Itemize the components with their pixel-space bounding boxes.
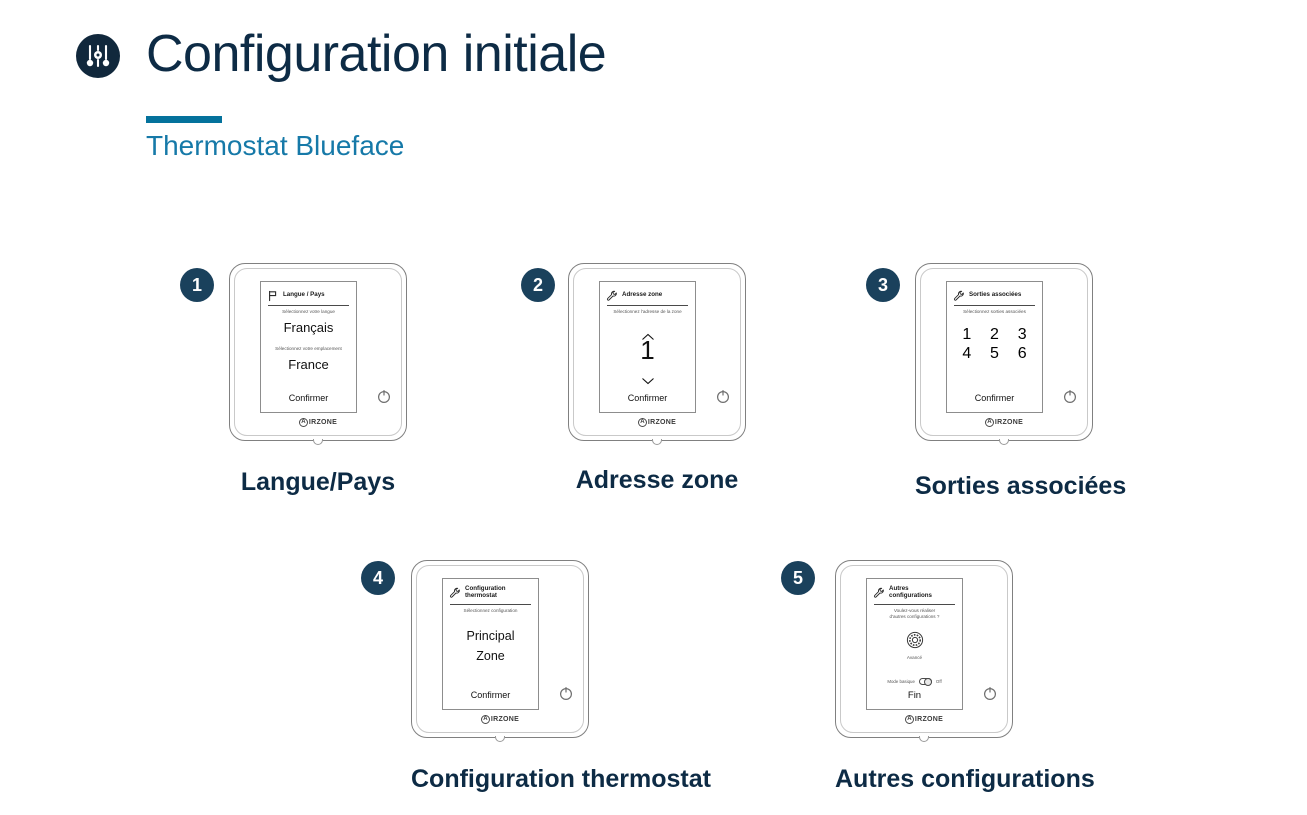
thermostat-device-3: Sorties associées Sélectionnez sorties a…	[915, 263, 1093, 441]
screen-value-principal[interactable]: Principal	[443, 629, 538, 643]
screen-value-address[interactable]: 1	[600, 336, 695, 365]
airzone-wordmark: IRZONE	[309, 419, 337, 426]
airzone-logo-3: A IRZONE	[916, 418, 1092, 427]
steps-grid: 1 Langue / Pays Sélectionnez v	[0, 0, 1307, 815]
power-button[interactable]	[715, 388, 731, 404]
step-caption-4: Configuration thermostat	[411, 765, 589, 794]
airzone-wordmark: IRZONE	[995, 419, 1023, 426]
thermostat-device-1: Langue / Pays Sélectionnez votre langue …	[229, 263, 407, 441]
thermostat-screen-3: Sorties associées Sélectionnez sorties a…	[946, 281, 1043, 413]
output-3[interactable]: 3	[1008, 326, 1036, 344]
thermostat-device-5: Autres configurations Voulez-vous réalis…	[835, 560, 1013, 738]
power-button[interactable]	[558, 685, 574, 701]
toggle-state-label: Off	[936, 679, 942, 684]
screen-title-5-line1: Autres	[889, 585, 909, 592]
step-caption-2: Adresse zone	[568, 466, 746, 495]
step-badge-2: 2	[521, 268, 555, 302]
thermostat-screen-5: Autres configurations Voulez-vous réalis…	[866, 578, 963, 710]
screen-header-3: Sorties associées	[953, 287, 1036, 303]
step-caption-1: Langue/Pays	[229, 468, 407, 497]
device-notch	[919, 736, 929, 742]
thermostat-screen-2: Adresse zone Sélectionnez l'adresse de l…	[599, 281, 696, 413]
airzone-wordmark: IRZONE	[915, 716, 943, 723]
screen-title-1: Langue / Pays	[283, 291, 325, 298]
screen-title-4-line1: Configuration	[465, 585, 506, 592]
thermostat-device-4: Configuration thermostat Sélectionnez co…	[411, 560, 589, 738]
screen-title-5-line2: configurations	[889, 592, 932, 599]
airzone-mark: A	[481, 715, 490, 724]
confirm-button[interactable]: Confirmer	[600, 393, 695, 403]
output-5[interactable]: 5	[981, 345, 1009, 363]
gear-icon[interactable]	[906, 631, 924, 654]
device-notch	[495, 736, 505, 742]
screen-title-4-line2: thermostat	[465, 592, 497, 599]
step-caption-3: Sorties associées	[915, 472, 1093, 501]
outputs-grid: 1 2 3 4 5 6	[953, 326, 1036, 364]
power-button[interactable]	[1062, 388, 1078, 404]
screen-divider	[268, 305, 349, 306]
basic-mode-toggle[interactable]	[919, 678, 932, 685]
airzone-mark: A	[299, 418, 308, 427]
screen-hint-outputs: Sélectionnez sorties associées	[951, 309, 1038, 315]
wrench-icon	[606, 289, 618, 301]
screen-header-1: Langue / Pays	[267, 287, 350, 303]
basic-mode-toggle-row[interactable]: Mode basique Off	[872, 678, 957, 685]
flag-icon	[267, 289, 279, 301]
step-caption-5: Autres configurations	[835, 765, 1013, 794]
screen-value-location[interactable]: France	[261, 357, 356, 372]
output-4[interactable]: 4	[953, 345, 981, 363]
screen-value-zone[interactable]: Zone	[443, 649, 538, 663]
chevron-down-icon[interactable]	[641, 372, 655, 380]
airzone-mark: A	[638, 418, 647, 427]
output-2[interactable]: 2	[981, 326, 1009, 344]
screen-divider	[874, 604, 955, 605]
step-badge-3: 3	[866, 268, 900, 302]
toggle-knob	[924, 678, 932, 686]
airzone-logo-4: A IRZONE	[412, 715, 588, 724]
airzone-logo-2: A IRZONE	[569, 418, 745, 427]
airzone-logo-5: A IRZONE	[836, 715, 1012, 724]
output-6[interactable]: 6	[1008, 345, 1036, 363]
power-button[interactable]	[982, 685, 998, 701]
screen-header-5: Autres configurations	[873, 584, 956, 600]
screen-hint-location: Sélectionnez votre emplacement	[265, 346, 352, 352]
finish-button[interactable]: Fin	[867, 690, 962, 701]
advanced-label[interactable]: Avancé	[867, 655, 962, 660]
screen-title-2: Adresse zone	[622, 291, 662, 298]
airzone-mark: A	[905, 715, 914, 724]
confirm-button[interactable]: Confirmer	[261, 393, 356, 403]
thermostat-screen-1: Langue / Pays Sélectionnez votre langue …	[260, 281, 357, 413]
screen-hint-language: Sélectionnez votre langue	[265, 309, 352, 315]
screen-header-2: Adresse zone	[606, 287, 689, 303]
screen-hint-config: Sélectionnez configuration	[447, 608, 534, 614]
screen-header-4: Configuration thermostat	[449, 584, 532, 600]
thermostat-device-2: Adresse zone Sélectionnez l'adresse de l…	[568, 263, 746, 441]
device-notch	[999, 439, 1009, 445]
airzone-wordmark: IRZONE	[648, 419, 676, 426]
screen-divider	[954, 305, 1035, 306]
basic-mode-label: Mode basique	[887, 679, 915, 684]
wrench-icon	[449, 586, 461, 598]
screen-title-3: Sorties associées	[969, 291, 1021, 298]
step-badge-5: 5	[781, 561, 815, 595]
wrench-icon	[873, 586, 885, 598]
confirm-button[interactable]: Confirmer	[443, 690, 538, 700]
device-notch	[313, 439, 323, 445]
wrench-icon	[953, 289, 965, 301]
airzone-mark: A	[985, 418, 994, 427]
screen-divider	[607, 305, 688, 306]
confirm-button[interactable]: Confirmer	[947, 393, 1042, 403]
airzone-wordmark: IRZONE	[491, 716, 519, 723]
thermostat-screen-4: Configuration thermostat Sélectionnez co…	[442, 578, 539, 710]
screen-hint-address: Sélectionnez l'adresse de la zone	[604, 309, 691, 315]
device-notch	[652, 439, 662, 445]
step-badge-4: 4	[361, 561, 395, 595]
power-button[interactable]	[376, 388, 392, 404]
screen-value-language[interactable]: Français	[261, 320, 356, 335]
airzone-logo-1: A IRZONE	[230, 418, 406, 427]
screen-question-line2: d'autres configurations ?	[871, 614, 958, 620]
output-1[interactable]: 1	[953, 326, 981, 344]
screen-divider	[450, 604, 531, 605]
step-badge-1: 1	[180, 268, 214, 302]
